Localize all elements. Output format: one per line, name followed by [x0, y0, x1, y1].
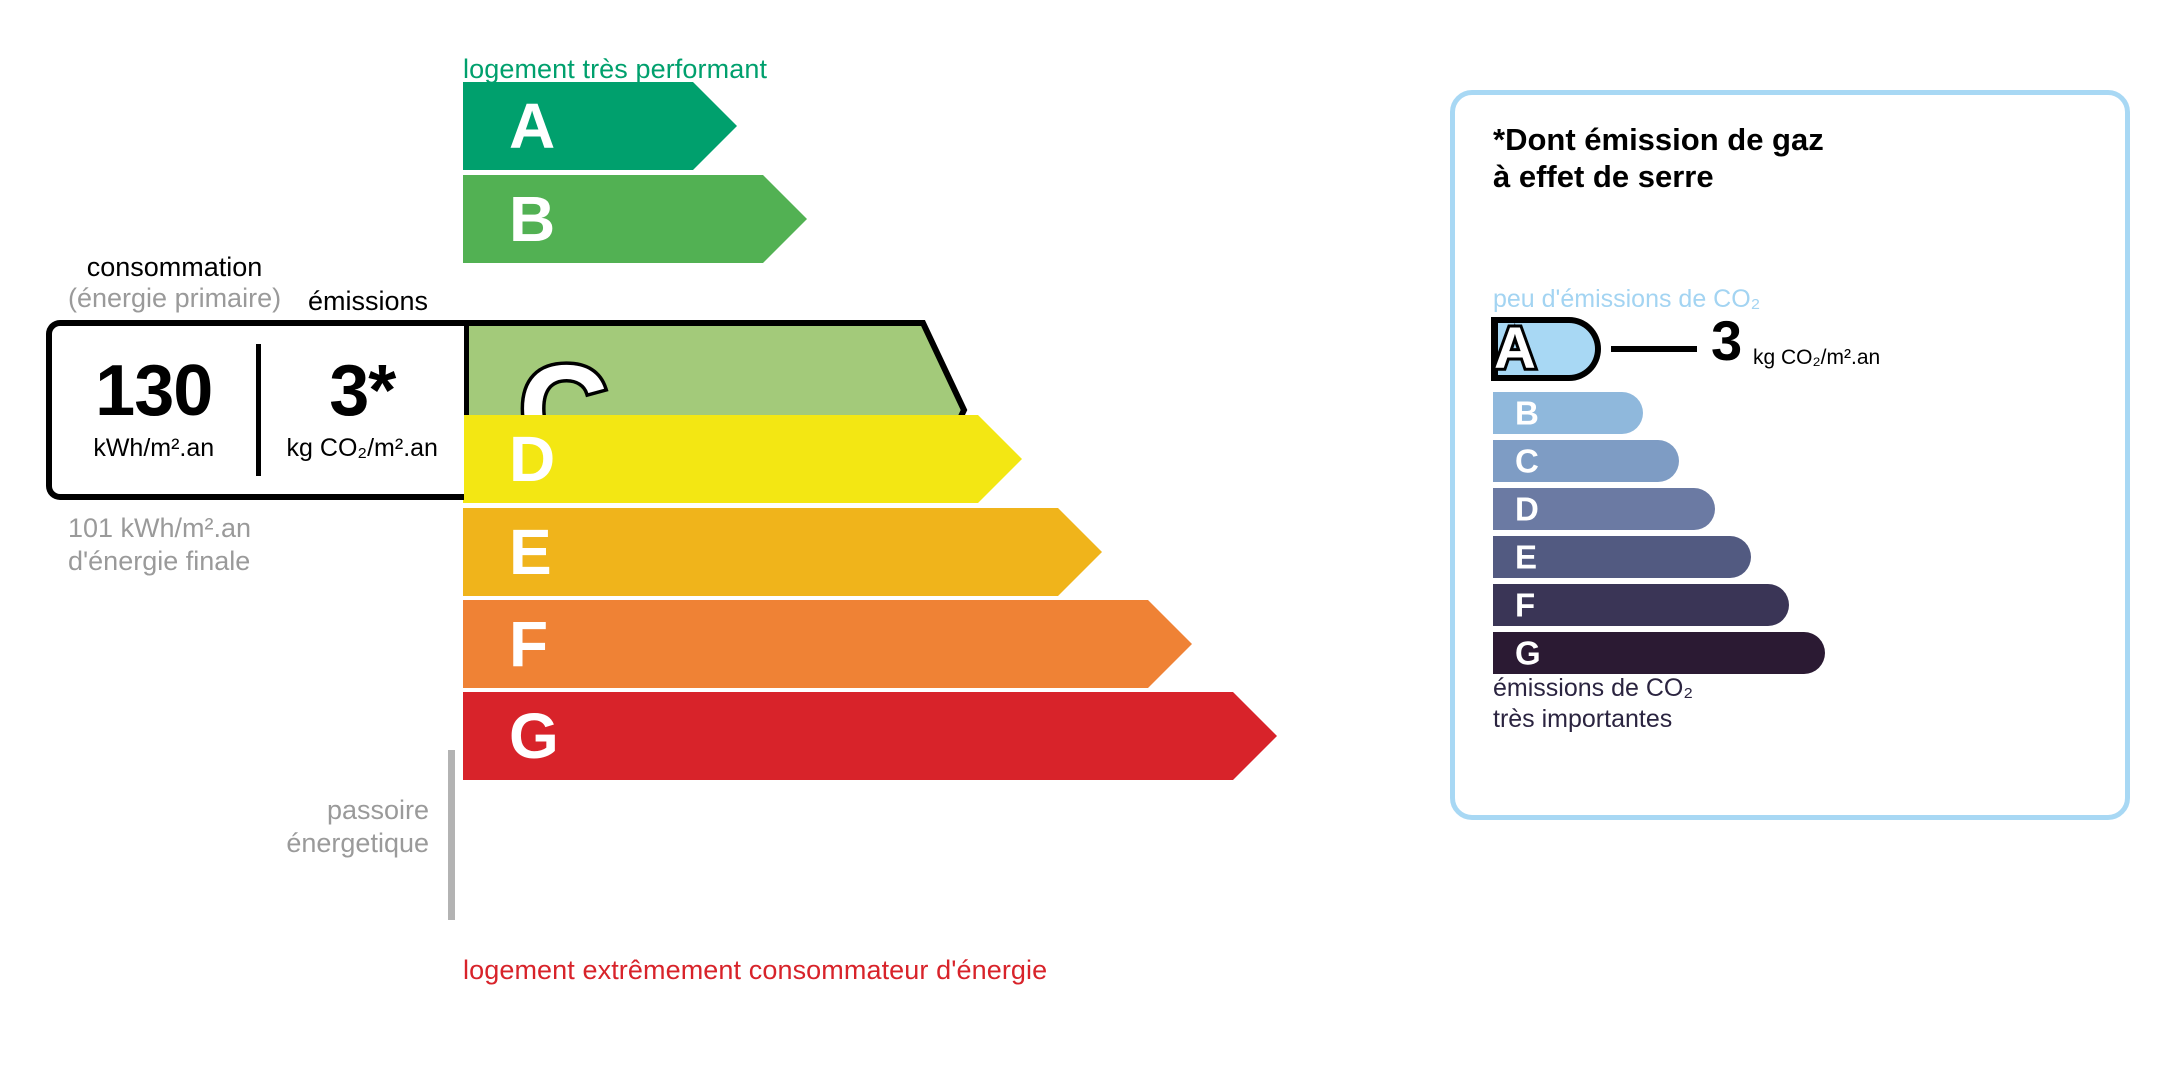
emission-cell: 3* kg CO₂/m².an [256, 344, 465, 476]
primary-energy-unit: kWh/m².an [93, 434, 214, 463]
co2-panel-title: *Dont émission de gaz à effet de serre [1493, 121, 1824, 195]
primary-energy-cell: 130 kWh/m².an [52, 357, 256, 462]
energy-band-a: A [463, 82, 737, 170]
co2-bar-letter-g: G [1515, 637, 1541, 670]
co2-current-class-letter: A [1494, 320, 1536, 378]
co2-bar-b: B [1493, 392, 1643, 434]
co2-bar-letter-e: E [1515, 541, 1537, 574]
primary-energy-value: 130 [95, 357, 212, 425]
co2-bar-e: E [1493, 536, 1751, 578]
co2-value-unit: kg CO₂/m².an [1753, 347, 1880, 368]
co2-title-line2: à effet de serre [1493, 158, 1824, 195]
energy-band-letter-a: A [509, 94, 555, 158]
co2-bar-c: C [1493, 440, 1679, 482]
consumption-header-line2: (énergie primaire) [68, 283, 281, 314]
passoire-label: passoire énergetique [286, 794, 429, 860]
energy-band-shape-a [463, 82, 737, 170]
energy-band-shape-f [463, 600, 1192, 688]
co2-value: 3 [1711, 313, 1742, 369]
dpe-label: logement très performant ABCDEFG logemen… [0, 0, 2169, 1079]
ladder-top-caption: logement très performant [463, 54, 767, 85]
consumption-header-line1: consommation [87, 252, 263, 282]
passoire-group: passoire énergetique [290, 750, 455, 920]
energy-band-f: F [463, 600, 1192, 688]
consumption-header: consommation (énergie primaire) [68, 252, 281, 314]
passoire-line1: passoire [286, 794, 429, 827]
co2-bar-letter-c: C [1515, 445, 1539, 478]
final-energy-note: 101 kWh/m².an d'énergie finale [68, 512, 251, 578]
energy-band-letter-b: B [509, 187, 555, 251]
energy-band-shape-g [463, 692, 1277, 780]
emission-unit: kg CO₂/m².an [287, 434, 438, 463]
co2-bar-letter-b: B [1515, 397, 1539, 430]
energy-band-b: B [463, 175, 807, 263]
co2-bar-letter-f: F [1515, 589, 1535, 622]
passoire-line2: énergetique [286, 827, 429, 860]
co2-bottom-caption: émissions de CO₂ très importantes [1493, 673, 1693, 734]
co2-leader-line [1611, 346, 1697, 352]
passoire-bracket [448, 750, 455, 920]
energy-band-shape-e [463, 508, 1102, 596]
co2-bar-g: G [1493, 632, 1825, 674]
co2-bottom-line2: très importantes [1493, 704, 1693, 735]
energy-performance-ladder: logement très performant ABCDEFG logemen… [0, 0, 1380, 1079]
energy-band-letter-e: E [509, 520, 552, 584]
co2-bar-letter-d: D [1515, 493, 1539, 526]
current-rating-row: 130 kWh/m².an 3* kg CO₂/m².an [46, 320, 906, 500]
value-box: 130 kWh/m².an 3* kg CO₂/m².an [46, 320, 464, 500]
co2-bottom-line1: émissions de CO₂ [1493, 673, 1693, 704]
co2-bar-f: F [1493, 584, 1789, 626]
energy-band-letter-g: G [509, 704, 559, 768]
emissions-header: émissions [308, 286, 428, 317]
co2-title-line1: *Dont émission de gaz [1493, 121, 1824, 158]
final-energy-line1: 101 kWh/m².an [68, 512, 251, 545]
emission-value: 3* [329, 357, 395, 425]
greenhouse-gas-panel: *Dont émission de gaz à effet de serre p… [1450, 90, 2130, 820]
co2-bar-d: D [1493, 488, 1715, 530]
ladder-bottom-caption: logement extrêmement consommateur d'éner… [463, 955, 1047, 986]
energy-band-e: E [463, 508, 1102, 596]
energy-band-g: G [463, 692, 1277, 780]
final-energy-line2: d'énergie finale [68, 545, 251, 578]
energy-band-letter-f: F [509, 612, 548, 676]
